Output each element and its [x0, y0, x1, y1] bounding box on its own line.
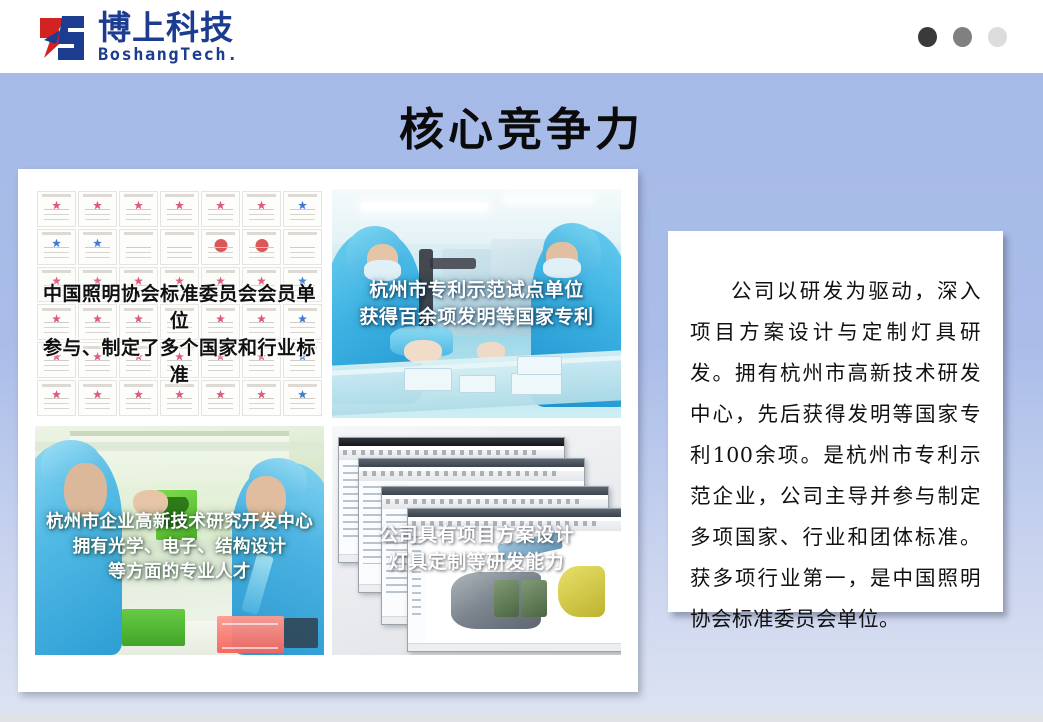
boshang-logo-icon [38, 14, 90, 62]
tile-cad[interactable]: 公司具有项目方案设计 灯具定制等研发能力 [332, 426, 621, 655]
tile-certificates[interactable]: 中国照明协会标准委员会会员单位 参与、制定了多个国家和行业标准 [35, 189, 324, 418]
description-text: 公司以研发为驱动，深入项目方案设计与定制灯具研发。拥有杭州市高新技术研发中心，先… [690, 271, 981, 640]
pager-dot-1[interactable] [918, 27, 937, 47]
slide-root: 博上科技 BoshangTech. 核心竞争力 [0, 0, 1043, 722]
company-logo[interactable]: 博上科技 BoshangTech. [38, 11, 239, 64]
certificate-thumbnails [35, 189, 324, 418]
description-panel: 公司以研发为驱动，深入项目方案设计与定制灯具研发。拥有杭州市高新技术研发中心，先… [668, 231, 1003, 612]
tile-cleanroom[interactable]: 杭州市专利示范试点单位 获得百余项发明等国家专利 [332, 189, 621, 418]
media-grid: 中国照明协会标准委员会会员单位 参与、制定了多个国家和行业标准 [35, 189, 621, 655]
page-title: 核心竞争力 [0, 93, 1043, 158]
tile-lab[interactable]: 杭州市企业高新技术研究开发中心 拥有光学、电子、结构设计 等方面的专业人才 [35, 426, 324, 655]
logo-name-en: BoshangTech. [98, 47, 239, 64]
footer-strip [0, 714, 1043, 722]
pager-dots[interactable] [918, 27, 1007, 47]
logo-name-cn: 博上科技 [98, 11, 239, 44]
cad-window-4 [407, 508, 621, 652]
pager-dot-2[interactable] [953, 27, 972, 47]
header-bar: 博上科技 BoshangTech. [0, 0, 1043, 73]
media-card: 中国照明协会标准委员会会员单位 参与、制定了多个国家和行业标准 [18, 169, 638, 692]
pager-dot-3[interactable] [988, 27, 1007, 47]
